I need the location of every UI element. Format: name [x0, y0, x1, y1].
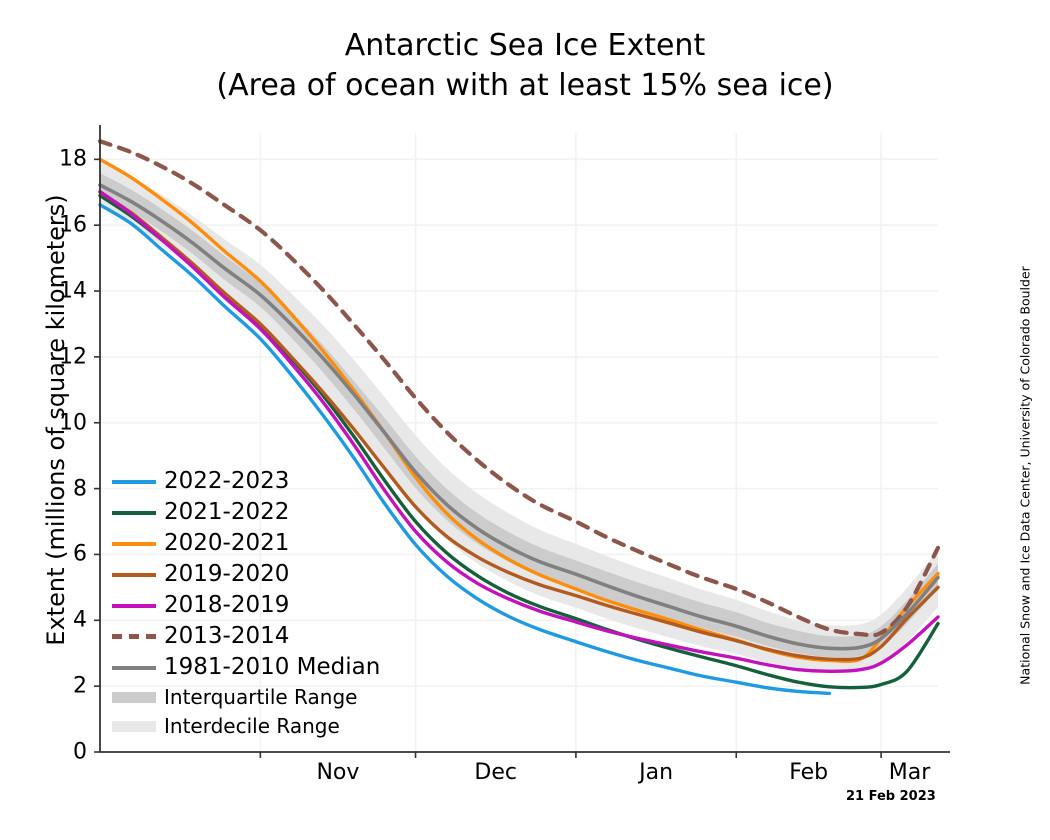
legend-item-label: 2020-2021 [164, 532, 289, 555]
legend-swatch-icon [112, 595, 156, 617]
legend-swatch-icon [112, 626, 156, 648]
legend-swatch-icon [112, 657, 156, 679]
chart-legend: 2022-20232021-20222020-20212019-20202018… [112, 466, 472, 741]
legend-swatch-icon [112, 502, 156, 524]
legend-swatch-icon [112, 687, 156, 709]
legend-item: 2019-2020 [112, 559, 472, 590]
legend-item-label: 2021-2022 [164, 501, 289, 524]
legend-item: 2021-2022 [112, 497, 472, 528]
legend-swatch-icon [112, 533, 156, 555]
legend-item: Interdecile Range [112, 712, 472, 741]
legend-item: 2020-2021 [112, 528, 472, 559]
legend-item-label: 2019-2020 [164, 563, 289, 586]
legend-swatch-icon [112, 716, 156, 738]
legend-item-label: 2013-2014 [164, 625, 289, 648]
legend-item: 1981-2010 Median [112, 652, 472, 683]
legend-swatch-icon [112, 471, 156, 493]
chart-figure: Antarctic Sea Ice Extent (Area of ocean … [0, 0, 1050, 840]
legend-item: 2018-2019 [112, 590, 472, 621]
legend-swatch-icon [112, 564, 156, 586]
legend-item-label: Interdecile Range [164, 715, 340, 738]
legend-item: 2022-2023 [112, 466, 472, 497]
legend-item-label: Interquartile Range [164, 686, 357, 709]
legend-item: 2013-2014 [112, 621, 472, 652]
legend-item-label: 2022-2023 [164, 470, 289, 493]
legend-item-label: 1981-2010 Median [164, 656, 380, 679]
legend-item: Interquartile Range [112, 683, 472, 712]
legend-item-label: 2018-2019 [164, 594, 289, 617]
